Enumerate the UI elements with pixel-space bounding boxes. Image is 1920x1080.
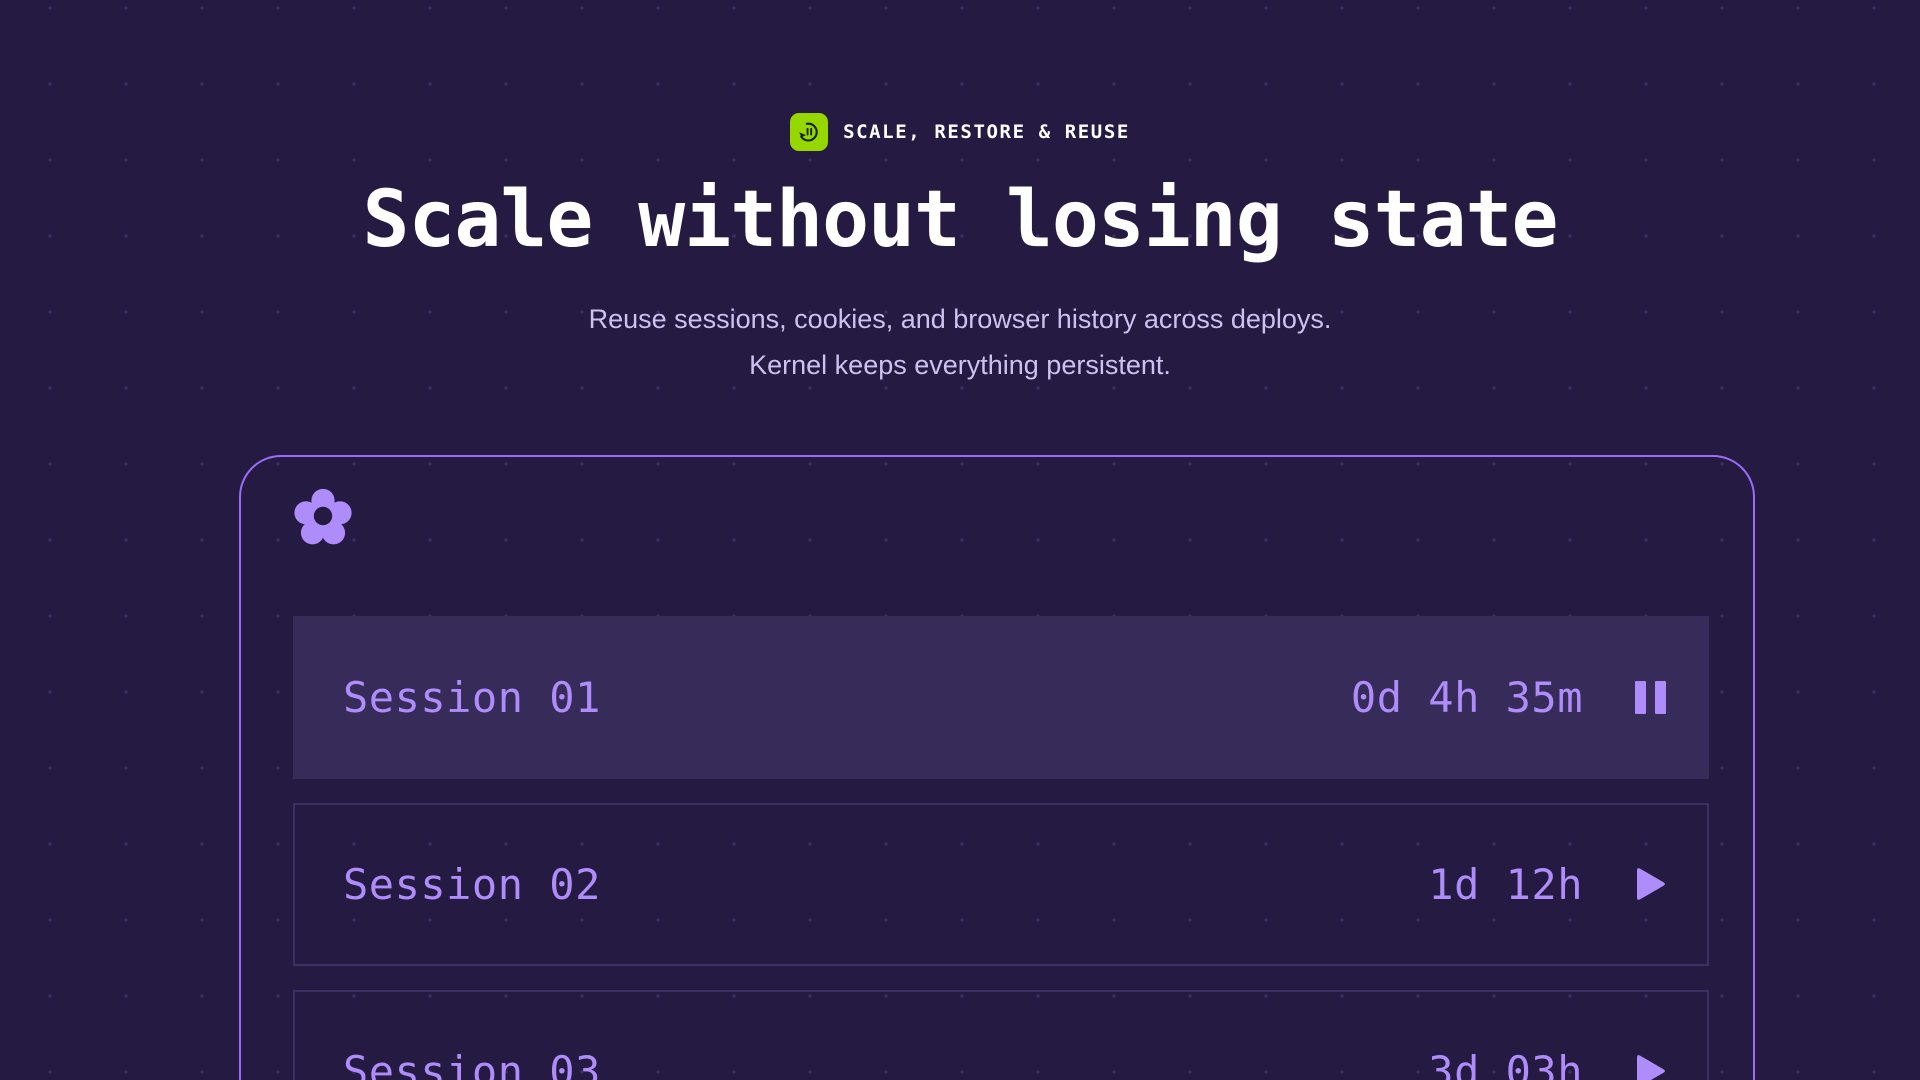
page-subtitle: Reuse sessions, cookies, and browser his… xyxy=(0,296,1920,388)
subtitle-line-2: Kernel keeps everything persistent. xyxy=(0,342,1920,388)
session-name: Session 01 xyxy=(343,673,1351,722)
flower-icon xyxy=(292,485,354,547)
pause-bar-left xyxy=(1635,681,1646,714)
session-name: Session 02 xyxy=(343,860,1428,909)
session-row[interactable]: Session 02 1d 12h xyxy=(293,803,1709,966)
pause-icon[interactable] xyxy=(1629,677,1671,719)
subtitle-line-1: Reuse sessions, cookies, and browser his… xyxy=(0,296,1920,342)
eyebrow-badge: SCALE, RESTORE & REUSE xyxy=(0,113,1920,151)
page-title: Scale without losing state xyxy=(0,178,1920,264)
restore-pause-icon xyxy=(790,113,828,151)
session-duration: 3d 03h xyxy=(1428,1047,1583,1080)
play-icon[interactable] xyxy=(1629,1051,1671,1080)
session-row[interactable]: Session 01 0d 4h 35m xyxy=(293,616,1709,779)
session-duration: 1d 12h xyxy=(1428,860,1583,909)
play-icon[interactable] xyxy=(1629,864,1671,906)
session-card: Session 01 0d 4h 35m Session 02 1d 12h S… xyxy=(239,455,1755,1080)
session-row[interactable]: Session 03 3d 03h xyxy=(293,990,1709,1080)
session-list: Session 01 0d 4h 35m Session 02 1d 12h S… xyxy=(293,616,1709,1080)
session-name: Session 03 xyxy=(343,1047,1428,1080)
session-duration: 0d 4h 35m xyxy=(1351,673,1583,722)
eyebrow-label: SCALE, RESTORE & REUSE xyxy=(843,121,1130,143)
pause-bar-right xyxy=(1655,681,1666,714)
